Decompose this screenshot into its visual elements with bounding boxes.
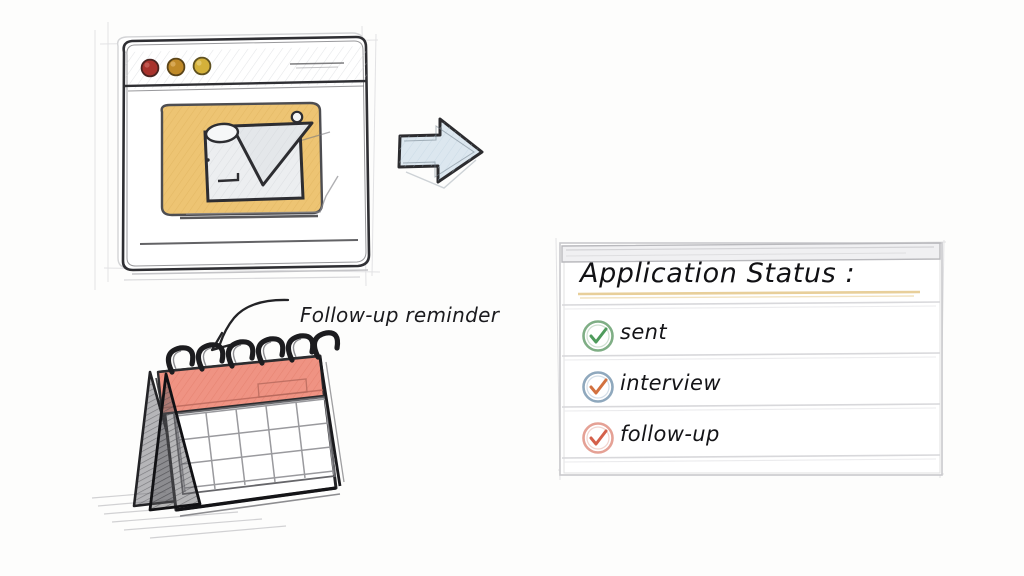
status-row-label-follow-up: follow-up (620, 422, 720, 446)
status-icon-sent (584, 322, 613, 351)
traffic-light-dots (142, 58, 211, 77)
page-title: Application Status : (580, 258, 855, 289)
desk-calendar (92, 333, 344, 538)
status-icon-follow-up (584, 424, 613, 453)
sketch-canvas: Application Status : Follow-up reminder … (0, 0, 1024, 576)
follow-up-annotation-label: Follow-up reminder (300, 303, 499, 327)
browser-window-frame (118, 33, 369, 280)
envelope-icon (162, 103, 338, 218)
flow-arrow-right (399, 119, 482, 188)
status-icon-interview (584, 373, 613, 402)
sketch-illustration (0, 0, 1024, 576)
status-row-label-interview: interview (620, 371, 721, 395)
status-row-label-sent: sent (620, 320, 667, 344)
